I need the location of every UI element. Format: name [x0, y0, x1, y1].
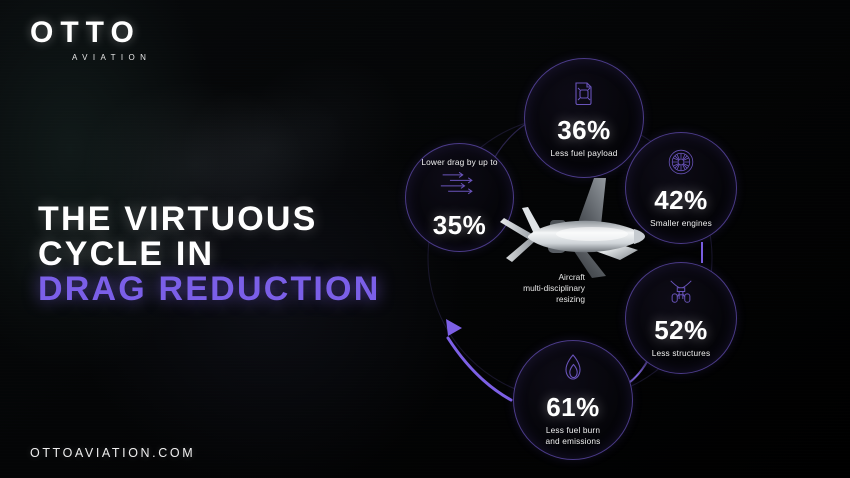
center-label-line-2: multi-disciplinary: [475, 283, 585, 294]
airflow-lines-icon: [439, 170, 481, 203]
cycle-arrow-icon: [446, 319, 462, 336]
cycle-node-value: 52%: [654, 317, 708, 343]
cycle-node-caption: Less structures: [652, 348, 711, 359]
cycle-node-caption: Less fuel burn and emissions: [546, 425, 601, 447]
cycle-node-caption: Less fuel payload: [550, 148, 617, 159]
page-title: THE VIRTUOUS CYCLE IN DRAG REDUCTION: [38, 202, 380, 307]
slide-background: OTTO AVIATION THE VIRTUOUS CYCLE IN DRAG…: [0, 0, 850, 478]
cycle-node-caption: Smaller engines: [650, 218, 712, 229]
title-line-1: THE VIRTUOUS: [38, 202, 380, 237]
flame-icon: [561, 353, 585, 388]
landing-gear-icon: [667, 278, 695, 311]
caption-line-2: and emissions: [546, 436, 601, 446]
center-label-line-1: Aircraft: [475, 272, 585, 283]
center-label-line-3: resizing: [475, 294, 585, 305]
center-aircraft-label: Aircraft multi-disciplinary resizing: [475, 272, 585, 305]
business-jet-aircraft-icon: [488, 172, 656, 282]
logo-tagline: AVIATION: [72, 53, 151, 62]
caption-line-1: Less fuel burn: [546, 425, 600, 435]
logo-wordmark: OTTO: [30, 18, 151, 48]
title-line-3-accent: DRAG REDUCTION: [38, 272, 380, 307]
footer-website-url: OTTOAVIATION.COM: [30, 446, 195, 460]
virtuous-cycle-diagram: 36% Less fuel payload 42% S: [380, 20, 780, 460]
title-line-2: CYCLE IN: [38, 237, 380, 272]
cycle-node-caption: Lower drag by up to: [421, 157, 497, 168]
otto-aviation-logo: OTTO AVIATION: [30, 18, 151, 62]
cycle-node-value: 61%: [546, 394, 600, 420]
cycle-node-value: 42%: [654, 187, 708, 213]
cycle-node-value: 35%: [433, 212, 487, 238]
cycle-node-value: 36%: [557, 117, 611, 143]
turbine-engine-icon: [667, 148, 695, 181]
fuel-can-icon: [572, 78, 596, 111]
cycle-node-less-fuel-payload[interactable]: 36% Less fuel payload: [524, 58, 644, 178]
cycle-node-less-fuel-burn[interactable]: 61% Less fuel burn and emissions: [513, 340, 633, 460]
